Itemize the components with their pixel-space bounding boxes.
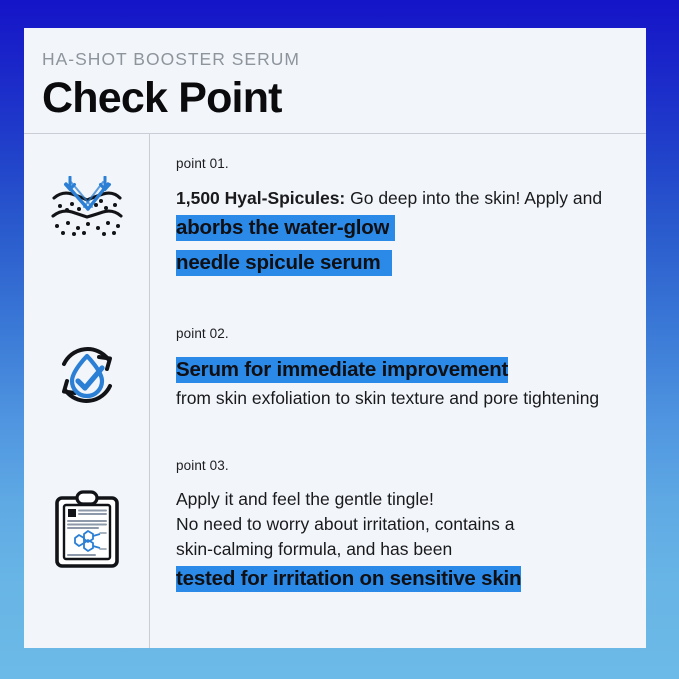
point-01-line-3: needle spicule serum — [176, 248, 646, 279]
point-01-lead-plain: Go deep into the skin! Apply and — [345, 188, 602, 208]
icon-column — [24, 134, 150, 648]
point-03-line-1: Apply it and feel the gentle tingle! — [176, 487, 646, 512]
point-01-line-2: aborbs the water-glow — [176, 213, 646, 244]
icon-cell-point-01 — [24, 156, 149, 326]
point-03-line-4: tested for irritation on sensitive skin — [176, 564, 646, 595]
point-03-line-2: No need to worry about irritation, conta… — [176, 512, 646, 537]
point-03-text-3: skin-calming formula, and has been — [176, 539, 452, 559]
text-column: point 01. 1,500 Hyal-Spicules: Go deep i… — [150, 134, 646, 648]
refresh-water-drop-check-icon — [52, 340, 122, 410]
card-body: point 01. 1,500 Hyal-Spicules: Go deep i… — [24, 134, 646, 648]
point-block-03: point 03. Apply it and feel the gentle t… — [176, 458, 646, 618]
point-01-highlight-2: needle spicule serum — [176, 250, 381, 276]
point-block-02: point 02. Serum for immediate improvemen… — [176, 326, 646, 458]
point-02-text-1: from skin exfoliation to skin texture an… — [176, 388, 599, 408]
point-03-text-1: Apply it and feel the gentle tingle! — [176, 489, 434, 509]
point-block-01: point 01. 1,500 Hyal-Spicules: Go deep i… — [176, 156, 646, 326]
point-01-highlight-2-pad — [381, 250, 392, 276]
point-01-highlight-1-pad — [389, 215, 395, 241]
point-label-02: point 02. — [176, 326, 646, 341]
point-02-line-2: from skin exfoliation to skin texture an… — [176, 386, 646, 411]
point-label-03: point 03. — [176, 458, 646, 473]
clipboard-molecule-report-icon — [53, 488, 121, 568]
page-title: Check Point — [42, 76, 646, 121]
point-01-line-1: 1,500 Hyal-Spicules: Go deep into the sk… — [176, 185, 646, 211]
point-02-line-1: Serum for immediate improvement — [176, 355, 646, 386]
product-eyebrow-label: HA-SHOT BOOSTER SERUM — [42, 50, 646, 69]
point-03-text-2: No need to worry about irritation, conta… — [176, 514, 515, 534]
icon-cell-point-02 — [24, 326, 149, 458]
needle-skin-penetration-icon — [48, 176, 126, 238]
point-label-01: point 01. — [176, 156, 646, 171]
card-header: HA-SHOT BOOSTER SERUM Check Point — [24, 28, 646, 134]
point-02-highlight-1: Serum for immediate improvement — [176, 357, 508, 383]
icon-cell-point-03 — [24, 458, 149, 618]
point-03-line-3: skin-calming formula, and has been — [176, 537, 646, 562]
point-03-highlight-1: tested for irritation on sensitive skin — [176, 566, 521, 592]
point-01-highlight-1: aborbs the water-glow — [176, 215, 389, 241]
check-point-card: HA-SHOT BOOSTER SERUM Check Point — [24, 28, 646, 648]
point-01-lead-bold: 1,500 Hyal-Spicules: — [176, 188, 345, 208]
